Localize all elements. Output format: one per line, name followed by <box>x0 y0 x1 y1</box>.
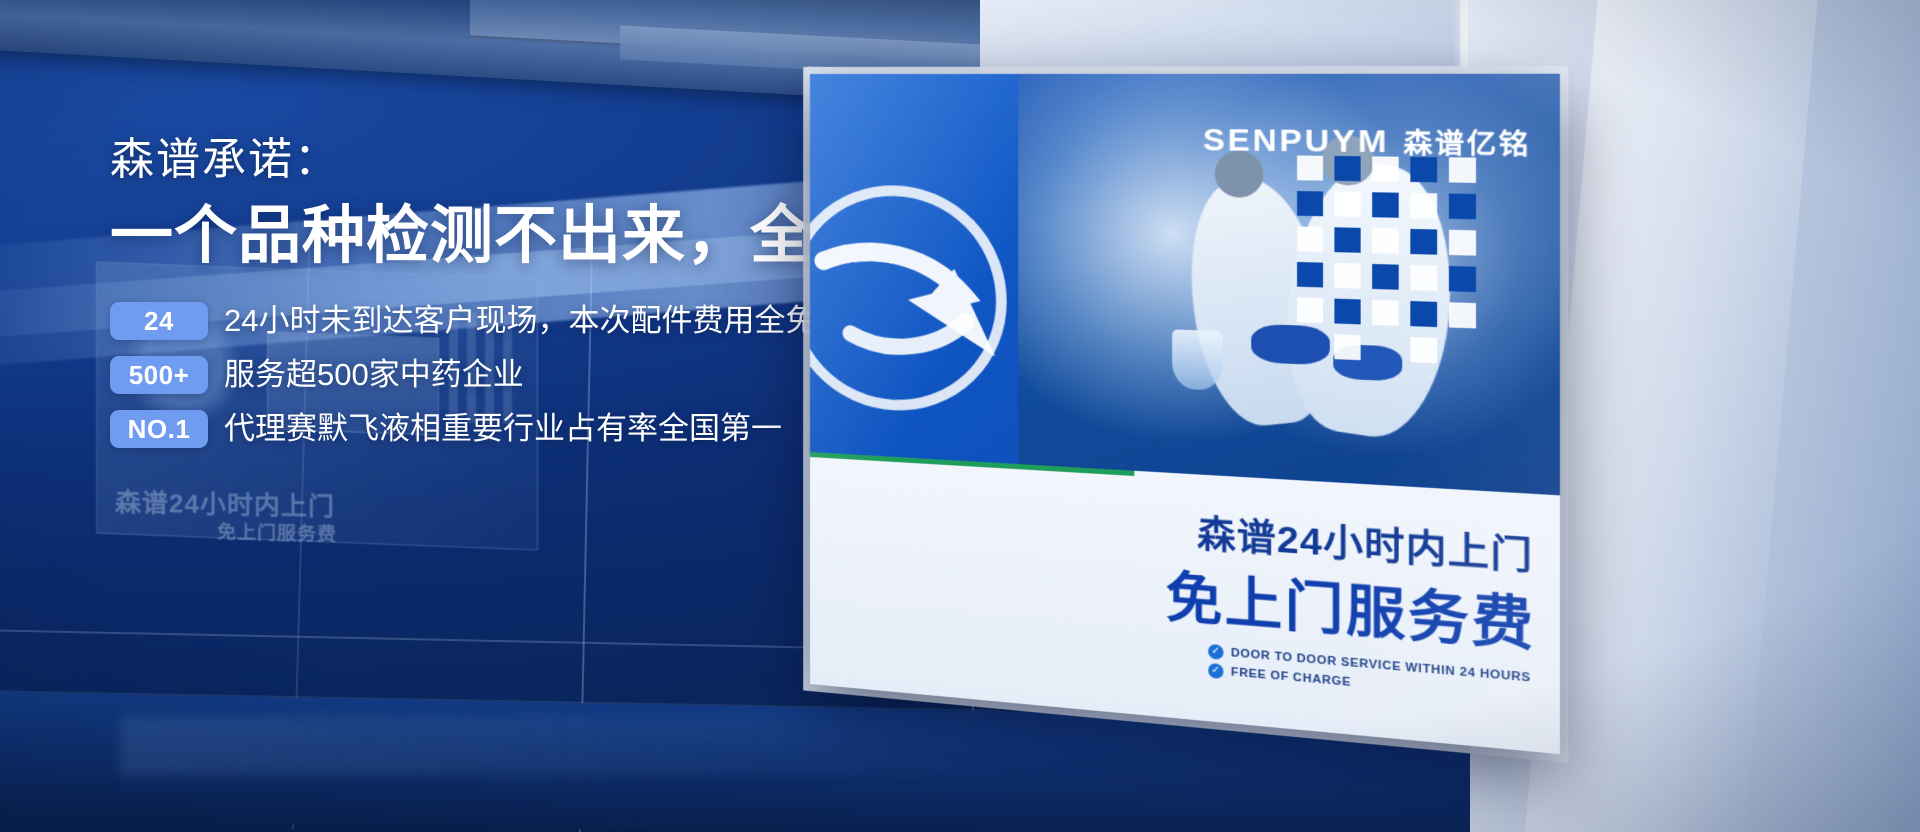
billboard-upper-blue: SENPUYM 森谱亿铭 <box>810 74 1560 496</box>
status-badge: 24 <box>110 302 208 340</box>
check-circle-icon: ✓ <box>1208 663 1223 679</box>
bullet-text: 24小时未到达客户现场，本次配件费用全免！ <box>224 304 847 338</box>
status-badge: NO.1 <box>110 410 208 448</box>
billboard-logo: SENPUYM 森谱亿铭 <box>1203 121 1531 163</box>
brand-swoosh-icon <box>810 179 1011 420</box>
logo-text-en: SENPUYM <box>1203 123 1390 161</box>
lab-flask <box>1172 329 1222 390</box>
logo-text-cn: 森谱亿铭 <box>1403 122 1531 163</box>
scene-root: 森谱24小时内上门 免上门服务费 森谱承诺： 一个品种检测不出来，全额退货！ 2… <box>0 0 1920 832</box>
reflection-text-line2: 免上门服务费 <box>217 517 337 547</box>
bullet-text: 服务超500家中药企业 <box>224 358 524 392</box>
checker-pattern <box>1297 155 1494 389</box>
billboard-panel: SENPUYM 森谱亿铭 森谱24小时内上门 免上门服务费 ✓ DOOR TO … <box>810 74 1560 754</box>
bullet-text: 代理赛默飞液相重要行业占有率全国第一 <box>224 412 782 446</box>
floor-reflection <box>120 716 1020 776</box>
status-badge: 500+ <box>110 356 208 394</box>
check-circle-icon: ✓ <box>1208 644 1223 660</box>
billboard-en-line: FREE OF CHARGE <box>1231 666 1351 689</box>
